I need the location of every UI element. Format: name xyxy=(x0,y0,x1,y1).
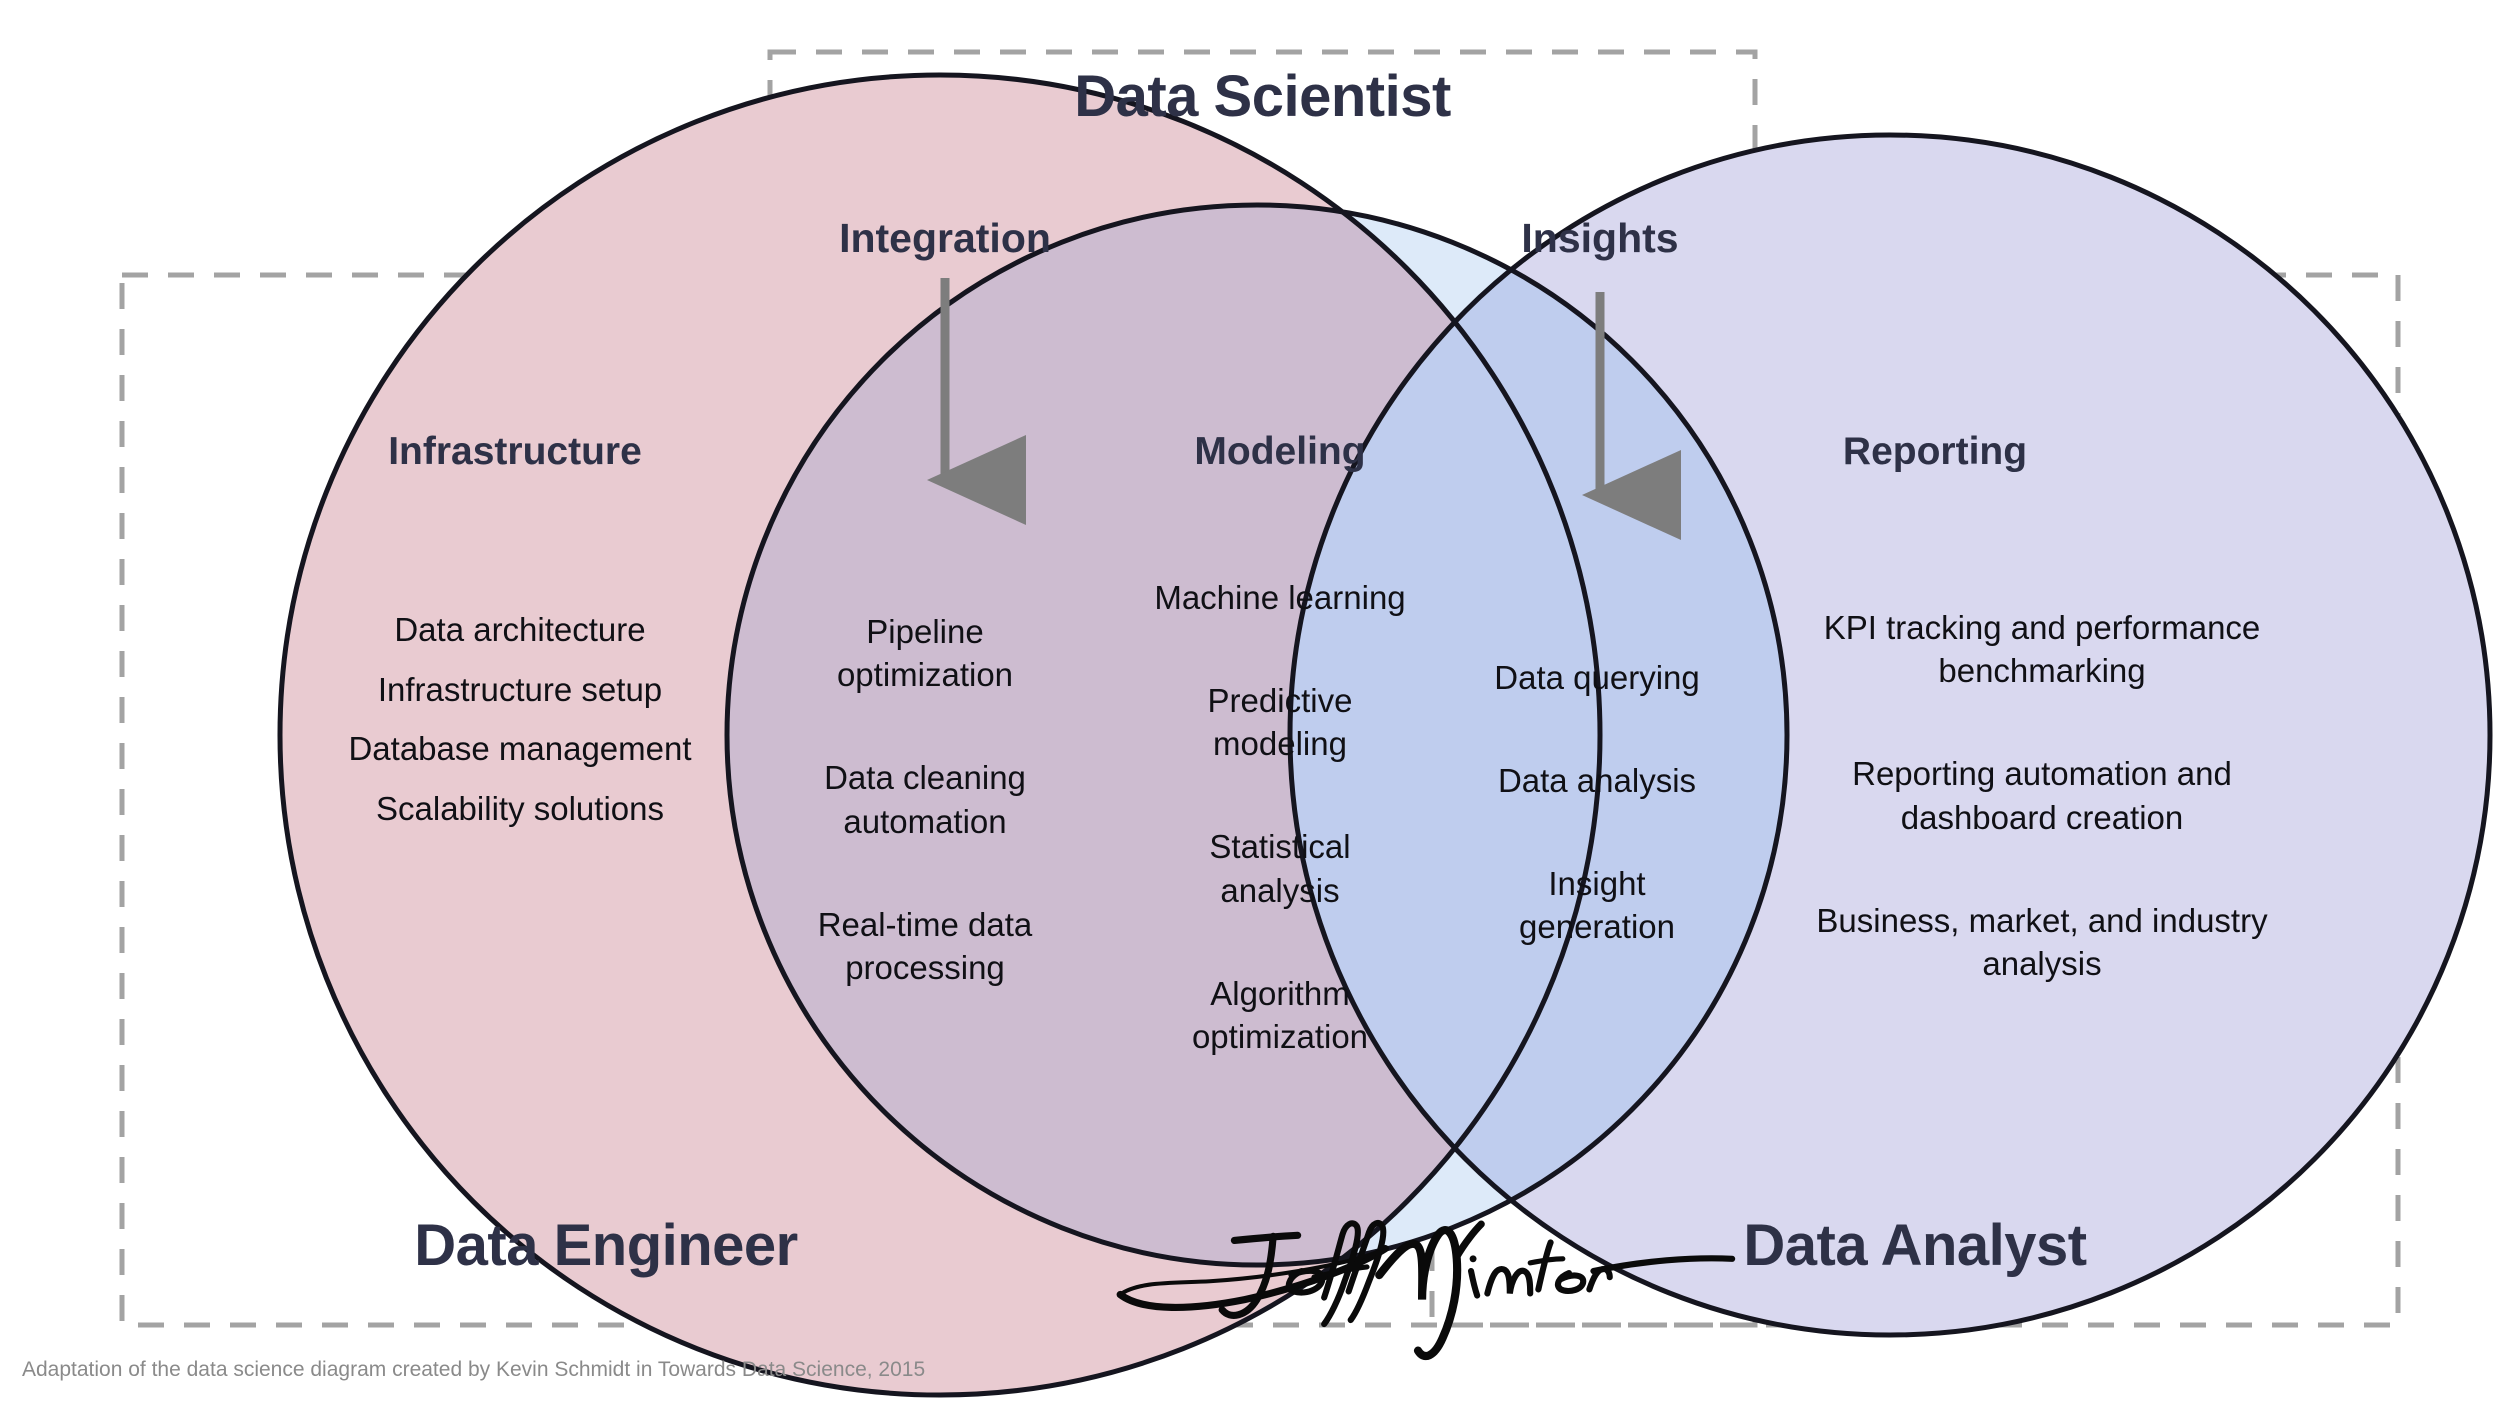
set-items-modeling: Machine learning Predictive modeling Sta… xyxy=(1080,532,1480,1103)
list-item: Algorithm optimization xyxy=(1080,972,1480,1059)
set-title-reporting: Reporting xyxy=(1700,430,2170,474)
set-title-modeling: Modeling xyxy=(1105,430,1455,474)
overlap-items-insights: Data querying Data analysis Insight gene… xyxy=(1452,612,1742,992)
list-item: Real-time data processing xyxy=(790,903,1060,990)
set-items-reporting: KPI tracking and performance benchmarkin… xyxy=(1762,562,2322,1029)
list-item: Reporting automation and dashboard creat… xyxy=(1762,752,2322,839)
list-item: Machine learning xyxy=(1080,576,1480,620)
list-item: Pipeline optimization xyxy=(790,610,1060,697)
source-caption: Adaptation of the data science diagram c… xyxy=(22,1358,925,1382)
arrow-label-integration: Integration xyxy=(795,215,1095,262)
list-item: Data analysis xyxy=(1452,759,1742,803)
arrow-label-insights: Insights xyxy=(1490,215,1710,262)
diagram-canvas: Jeff Winter xyxy=(0,0,2500,1406)
overlap-items-integration: Pipeline optimization Data cleaning auto… xyxy=(790,566,1060,1033)
list-item: Data architecture xyxy=(190,608,850,652)
list-item: KPI tracking and performance benchmarkin… xyxy=(1762,606,2322,693)
list-item: Statistical analysis xyxy=(1080,825,1480,912)
list-item: Business, market, and industry analysis xyxy=(1762,899,2322,986)
list-item: Data querying xyxy=(1452,656,1742,700)
role-title-data-engineer: Data Engineer xyxy=(122,1212,1090,1279)
set-title-infrastructure: Infrastructure xyxy=(330,430,700,474)
list-item: Infrastructure setup xyxy=(190,668,850,712)
set-items-infrastructure: Data architecture Infrastructure setup D… xyxy=(190,608,850,830)
list-item: Scalability solutions xyxy=(190,787,850,831)
role-title-data-scientist: Data Scientist xyxy=(770,63,1755,130)
list-item: Database management xyxy=(190,727,850,771)
list-item: Insight generation xyxy=(1452,862,1742,949)
list-item: Data cleaning automation xyxy=(790,756,1060,843)
role-title-data-analyst: Data Analyst xyxy=(1432,1212,2398,1279)
list-item: Predictive modeling xyxy=(1080,679,1480,766)
